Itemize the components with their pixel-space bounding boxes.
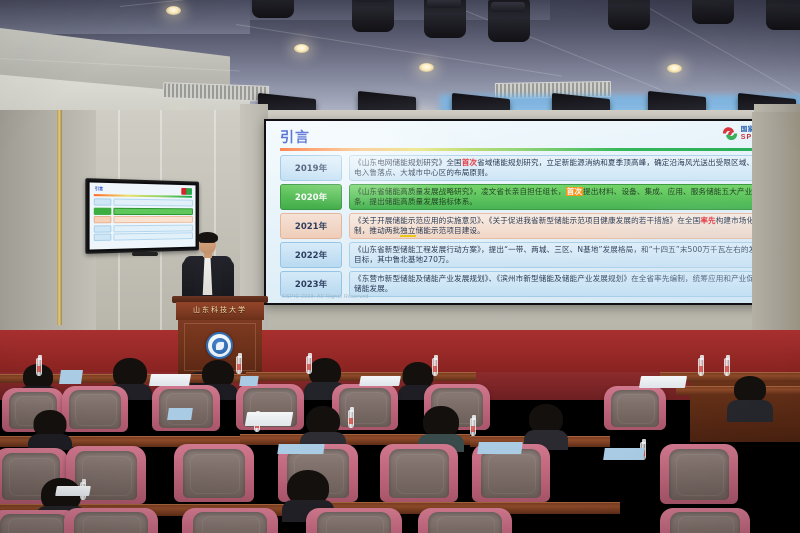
podium-nameplate: 山东科技大学 [176, 305, 264, 315]
auditorium-seat [418, 508, 512, 533]
blue-folder [477, 442, 523, 454]
stage-light-icon [352, 0, 394, 32]
timeline-row-text: 《山东省储能高质量发展战略研究》，凌文省长亲自担任组长，首次提出材料、设备、集成… [349, 184, 772, 210]
projection-screen: 引言 国家电投 SPIC 2019年《山东电网储能规划研究》全国首次省域储能规划… [266, 121, 782, 303]
highlight-red: 首次 [462, 158, 477, 167]
monitor-stand [132, 252, 158, 256]
timeline-row: 2019年《山东电网储能规划研究》全国首次省域储能规划研究，立足新能源消纳和夏季… [280, 155, 772, 181]
downlight-icon [667, 64, 682, 73]
water-bottle-icon [698, 358, 704, 376]
paper-on-desk [149, 374, 191, 386]
timeline-row-text: 《关于开展储能示范应用的实施意见》、《关于促进我省新型储能示范项目健康发展的若干… [349, 213, 772, 239]
slide-footer: ©SPIC 2023. All Rights Reserved. [282, 294, 370, 300]
paper-on-desk [359, 376, 401, 386]
water-bottle-icon [724, 358, 730, 376]
blue-folder [239, 376, 258, 386]
timeline-year-badge: 2020年 [280, 184, 342, 210]
timeline-row: 2021年《关于开展储能示范应用的实施意见》、《关于促进我省新型储能示范项目健康… [280, 213, 772, 239]
spic-logo-icon [722, 127, 738, 140]
timeline-year-badge: 2019年 [280, 155, 342, 181]
stage-light-icon [424, 0, 466, 38]
downlight-icon [294, 44, 309, 53]
auditorium-seat [660, 508, 750, 533]
highlight-underline: 独立 [400, 226, 415, 237]
audience-member [727, 376, 773, 422]
text-segment: 《关于开展储能示范应用的实施意见》、《关于促进我省新型储能示范项目健康发展的若干… [354, 216, 700, 225]
highlight-red: 率先 [700, 216, 715, 225]
timeline-row: 2022年《山东省新型储能工程发展行动方案》，提出“一带、两城、三区、N基地”发… [280, 242, 772, 268]
auditorium-seat [380, 444, 458, 502]
downlight-icon [166, 6, 181, 15]
ceiling [0, 0, 800, 122]
water-bottle-icon [470, 418, 476, 436]
blue-folder [603, 448, 645, 460]
paper-on-desk [245, 412, 293, 426]
timeline-year-badge: 2022年 [280, 242, 342, 268]
paper-on-desk [639, 376, 687, 388]
downlight-icon [419, 63, 434, 72]
timeline-row-text: 《山东省新型储能工程发展行动方案》，提出“一带、两城、三区、N基地”发展格局，和… [349, 242, 772, 268]
presentation-slide: 引言 国家电投 SPIC 2019年《山东电网储能规划研究》全国首次省域储能规划… [266, 121, 782, 303]
stage-light-icon [692, 0, 734, 24]
text-segment: 《东营市新型储能及储能产业发展规划》、《滨州市新型储能及储能产业发展规划》在全省… [354, 274, 762, 293]
slide-accent-rule [280, 148, 770, 151]
blue-folder [277, 444, 324, 454]
water-bottle-icon [236, 356, 242, 374]
water-bottle-icon [36, 358, 42, 376]
auditorium-seat [174, 444, 254, 502]
text-segment: 储能示范项目建设。 [416, 226, 485, 235]
timeline-row: 2020年《山东省储能高质量发展战略研究》，凌文省长亲自担任组长，首次提出材料、… [280, 184, 772, 210]
blue-folder [59, 370, 83, 384]
water-bottle-icon [432, 358, 438, 376]
blue-folder [167, 408, 193, 420]
water-bottle-icon [306, 356, 312, 374]
auditorium-seat [306, 508, 402, 533]
stage-light-icon [488, 0, 530, 42]
text-segment: 《山东电网储能规划研究》全国 [354, 158, 462, 167]
auditorium-seat [660, 444, 738, 504]
auditorium-seat [182, 508, 278, 533]
gold-trim-strip [57, 110, 62, 325]
text-segment: 《山东省新型储能工程发展行动方案》，提出“一带、两城、三区、N基地”发展格局，和… [354, 245, 764, 264]
lecture-hall-scene: 引言 引言 国家电投 [0, 0, 800, 533]
timeline-rows: 2019年《山东电网储能规划研究》全国首次省域储能规划研究，立足新能源消纳和夏季… [280, 155, 772, 300]
highlight-orange: 首次 [566, 187, 583, 196]
presenter-glasses-icon [200, 242, 215, 245]
timeline-year-badge: 2021年 [280, 213, 342, 239]
monitor-slide-title: 引言 [95, 186, 103, 192]
auditorium-seat [604, 386, 666, 430]
timeline-row-text: 《东营市新型储能及储能产业发展规划》、《滨州市新型储能及储能产业发展规划》在全省… [349, 271, 772, 297]
stage-light-icon [766, 0, 800, 30]
monitor-logo-icon [181, 188, 192, 195]
stage-light-icon [608, 0, 650, 30]
audience-area [0, 352, 800, 533]
stage-light-icon [252, 0, 294, 18]
water-bottle-icon [348, 410, 354, 428]
slide-title: 引言 [280, 127, 772, 147]
text-segment: 《山东省储能高质量发展战略研究》，凌文省长亲自担任组长， [354, 187, 566, 196]
auditorium-seat [64, 508, 158, 533]
audience-member [28, 410, 72, 450]
timeline-row-text: 《山东电网储能规划研究》全国首次省域储能规划研究，立足新能源消纳和夏季顶高峰，确… [349, 155, 772, 181]
paper-on-desk [55, 486, 91, 496]
